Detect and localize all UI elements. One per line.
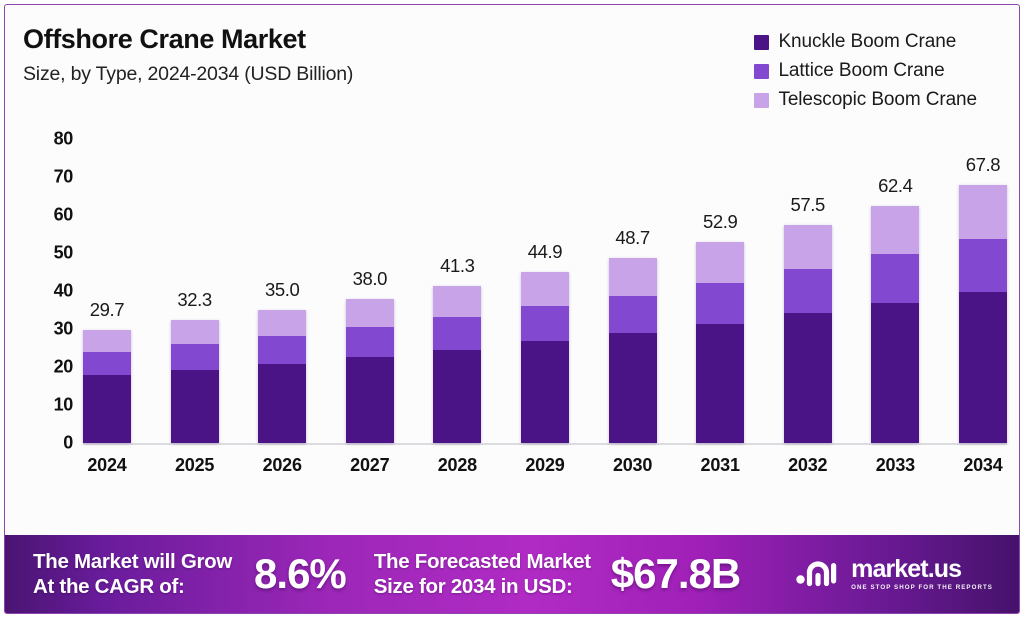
bar-segment[interactable] [258, 336, 306, 363]
bar-total-label: 32.3 [177, 289, 211, 311]
legend-item: Telescopic Boom Crane [754, 89, 977, 111]
x-axis-tick-label: 2027 [350, 455, 389, 476]
bar-segment[interactable] [609, 333, 657, 443]
y-axis-tick-label: 30 [54, 319, 73, 340]
x-axis-tick-label: 2034 [963, 455, 1002, 476]
legend-item: Knuckle Boom Crane [754, 31, 977, 53]
bar-segment[interactable] [83, 352, 131, 375]
x-axis-tick-label: 2030 [613, 455, 652, 476]
bar-segment[interactable] [346, 357, 394, 443]
bar-segment[interactable] [609, 296, 657, 334]
bar-segment[interactable] [959, 292, 1007, 443]
y-axis-tick-label: 0 [63, 433, 73, 454]
stacked-bar[interactable] [959, 185, 1007, 443]
stacked-bar[interactable] [871, 206, 919, 443]
bar-group[interactable]: 62.42033 [871, 175, 919, 443]
forecast-value: $67.8B [611, 550, 740, 598]
bar-segment[interactable] [258, 310, 306, 336]
bar-segment[interactable] [784, 313, 832, 443]
y-axis-tick-label: 10 [54, 395, 73, 416]
stacked-bar[interactable] [433, 286, 481, 443]
footer-banner: The Market will Grow At the CAGR of: 8.6… [5, 535, 1019, 613]
bar-total-label: 57.5 [791, 194, 825, 216]
bar-segment[interactable] [433, 286, 481, 317]
legend-item-label: Lattice Boom Crane [778, 60, 944, 82]
brand-logo: market.us ONE STOP SHOP FOR THE REPORTS [796, 556, 1003, 592]
bar-segment[interactable] [346, 299, 394, 328]
x-axis-tick-label: 2032 [788, 455, 827, 476]
cagr-label-line2: At the CAGR of: [33, 574, 232, 599]
x-axis-tick-label: 2033 [876, 455, 915, 476]
brand-name: market.us [851, 556, 993, 582]
forecast-label-line1: The Forecasted Market [374, 549, 591, 574]
chart-legend: Knuckle Boom CraneLattice Boom CraneTele… [754, 31, 977, 111]
legend-swatch-icon [754, 35, 769, 50]
bar-segment[interactable] [959, 185, 1007, 239]
forecast-label-line2: Size for 2034 in USD: [374, 574, 591, 599]
bar-group[interactable]: 44.92029 [521, 241, 569, 443]
bar-segment[interactable] [521, 341, 569, 443]
bar-group[interactable]: 38.02027 [346, 268, 394, 443]
bar-segment[interactable] [696, 242, 744, 283]
legend-item: Lattice Boom Crane [754, 60, 977, 82]
bar-segment[interactable] [346, 327, 394, 357]
bar-total-label: 38.0 [353, 268, 387, 290]
bar-total-label: 44.9 [528, 241, 562, 263]
bar-segment[interactable] [433, 350, 481, 443]
y-axis: 01020304050607080 [23, 127, 73, 535]
cagr-label-line1: The Market will Grow [33, 549, 232, 574]
stacked-bar[interactable] [696, 242, 744, 443]
bar-group[interactable]: 57.52032 [784, 194, 832, 443]
x-axis-tick-label: 2029 [525, 455, 564, 476]
bar-segment[interactable] [784, 269, 832, 313]
bar-total-label: 35.0 [265, 279, 299, 301]
bar-segment[interactable] [784, 225, 832, 269]
bar-segment[interactable] [696, 324, 744, 443]
bar-segment[interactable] [871, 303, 919, 443]
stacked-bar[interactable] [609, 258, 657, 443]
y-axis-tick-label: 40 [54, 281, 73, 302]
bar-segment[interactable] [171, 344, 219, 369]
cagr-value: 8.6% [254, 550, 346, 598]
y-axis-tick-label: 50 [54, 243, 73, 264]
y-axis-tick-label: 70 [54, 167, 73, 188]
y-axis-tick-label: 80 [54, 129, 73, 150]
bar-group[interactable]: 35.02026 [258, 279, 306, 443]
bar-total-label: 48.7 [615, 227, 649, 249]
x-axis-tick-label: 2025 [175, 455, 214, 476]
market-us-logo-icon [796, 557, 842, 592]
y-axis-tick-label: 60 [54, 205, 73, 226]
bar-group[interactable]: 52.92031 [696, 211, 744, 443]
brand-tagline: ONE STOP SHOP FOR THE REPORTS [851, 583, 993, 592]
legend-item-label: Knuckle Boom Crane [778, 31, 956, 53]
bar-group[interactable]: 32.32025 [171, 289, 219, 443]
plot-area: 01020304050607080 29.7202432.3202535.020… [5, 127, 1019, 535]
bar-segment[interactable] [83, 375, 131, 443]
x-axis-baseline [83, 443, 1007, 445]
bar-group[interactable]: 67.82034 [959, 154, 1007, 443]
stacked-bar[interactable] [171, 320, 219, 443]
chart-header: Offshore Crane Market Size, by Type, 202… [5, 5, 1019, 127]
bar-segment[interactable] [609, 258, 657, 296]
legend-swatch-icon [754, 64, 769, 79]
bar-segment[interactable] [171, 320, 219, 344]
forecast-label: The Forecasted Market Size for 2034 in U… [374, 549, 591, 599]
bar-group[interactable]: 48.72030 [609, 227, 657, 443]
stacked-bar[interactable] [258, 310, 306, 443]
x-axis-tick-label: 2028 [438, 455, 477, 476]
bar-segment[interactable] [433, 317, 481, 349]
bar-segment[interactable] [521, 306, 569, 341]
stacked-bar[interactable] [784, 225, 832, 443]
cagr-label: The Market will Grow At the CAGR of: [33, 549, 232, 599]
bar-total-label: 41.3 [440, 255, 474, 277]
bar-segment[interactable] [83, 330, 131, 352]
bar-segment[interactable] [258, 364, 306, 443]
chart-infographic: Offshore Crane Market Size, by Type, 202… [0, 0, 1024, 617]
legend-item-label: Telescopic Boom Crane [778, 89, 977, 111]
bar-segment[interactable] [871, 254, 919, 303]
stacked-bar[interactable] [83, 330, 131, 443]
chart-card: Offshore Crane Market Size, by Type, 202… [4, 4, 1020, 614]
x-axis-tick-label: 2024 [87, 455, 126, 476]
legend-swatch-icon [754, 93, 769, 108]
bar-series-container: 29.7202432.3202535.0202638.0202741.32028… [83, 127, 1007, 443]
bar-total-label: 29.7 [90, 299, 124, 321]
bar-total-label: 52.9 [703, 211, 737, 233]
stacked-bar[interactable] [346, 299, 394, 443]
bar-segment[interactable] [521, 272, 569, 306]
bar-segment[interactable] [959, 239, 1007, 292]
brand-text: market.us ONE STOP SHOP FOR THE REPORTS [851, 556, 993, 592]
y-axis-tick-label: 20 [54, 357, 73, 378]
bar-total-label: 67.8 [966, 154, 1000, 176]
bar-segment[interactable] [171, 370, 219, 443]
x-axis-tick-label: 2031 [701, 455, 740, 476]
bar-segment[interactable] [696, 283, 744, 324]
x-axis-tick-label: 2026 [263, 455, 302, 476]
bar-group[interactable]: 29.72024 [83, 299, 131, 443]
bar-segment[interactable] [871, 206, 919, 254]
plot-canvas: 29.7202432.3202535.0202638.0202741.32028… [83, 127, 1007, 535]
stacked-bar[interactable] [521, 272, 569, 443]
bar-group[interactable]: 41.32028 [433, 255, 481, 443]
bar-total-label: 62.4 [878, 175, 912, 197]
